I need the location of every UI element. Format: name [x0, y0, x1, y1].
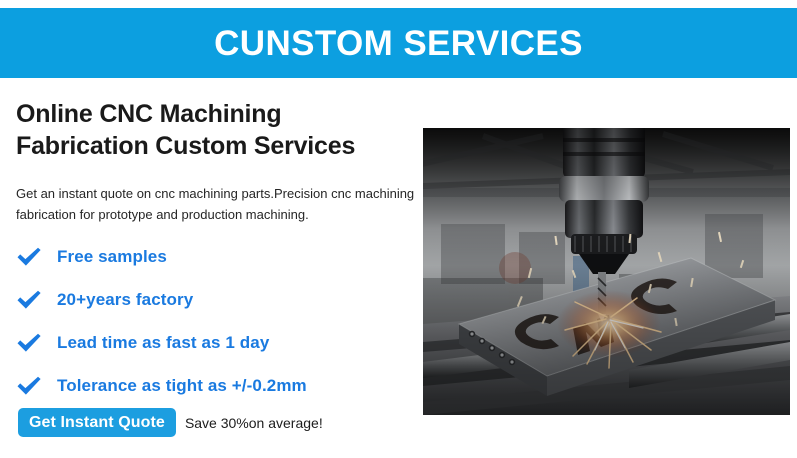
list-item-label: 20+years factory [57, 290, 193, 310]
page-title-line-1: Online CNC Machining [16, 98, 416, 130]
cnc-machining-photo [423, 128, 790, 415]
content-area: Online CNC Machining Fabrication Custom … [0, 78, 797, 458]
promo-banner-page: CUNSTOM SERVICES Online CNC Machining Fa… [0, 0, 797, 458]
page-banner: CUNSTOM SERVICES [0, 8, 797, 78]
page-description: Get an instant quote on cnc machining pa… [16, 183, 421, 225]
list-item: Free samples [16, 238, 416, 276]
cta-row: Get Instant Quote Save 30%on average! [18, 408, 323, 437]
cta-savings-note: Save 30%on average! [185, 415, 323, 431]
check-icon [16, 289, 42, 311]
check-icon [16, 375, 42, 397]
list-item-label: Lead time as fast as 1 day [57, 333, 269, 353]
feature-list: Free samples 20+years factory [16, 238, 416, 410]
list-item: Lead time as fast as 1 day [16, 324, 416, 362]
list-item: Tolerance as tight as +/-0.2mm [16, 367, 416, 405]
page-description-line-1: Get an instant quote on cnc machining pa… [16, 183, 421, 204]
check-icon [16, 332, 42, 354]
right-column [423, 78, 797, 458]
page-title: Online CNC Machining Fabrication Custom … [16, 98, 416, 162]
list-item-label: Free samples [57, 247, 167, 267]
get-instant-quote-button[interactable]: Get Instant Quote [18, 408, 176, 437]
page-title-line-2: Fabrication Custom Services [16, 130, 416, 162]
page-description-line-2: fabrication for prototype and production… [16, 204, 421, 225]
check-icon [16, 246, 42, 268]
list-item-label: Tolerance as tight as +/-0.2mm [57, 376, 307, 396]
banner-title: CUNSTOM SERVICES [214, 26, 583, 61]
list-item: 20+years factory [16, 281, 416, 319]
left-column: Online CNC Machining Fabrication Custom … [0, 78, 423, 458]
